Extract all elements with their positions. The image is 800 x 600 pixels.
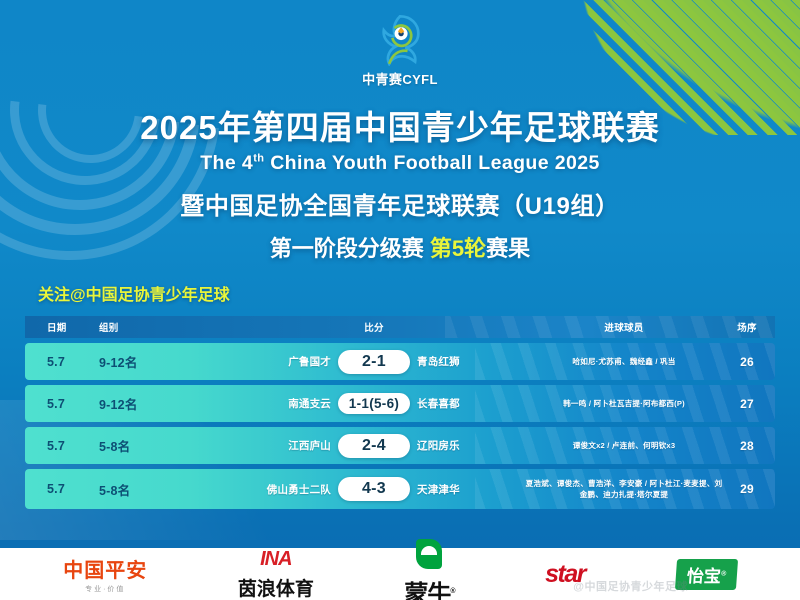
title-en-post: China Youth Football League 2025 <box>270 152 600 174</box>
mengniu-logo-icon <box>416 539 442 569</box>
cell-score: 2-4 <box>338 434 410 458</box>
cell-order: 29 <box>740 482 754 496</box>
sponsor-footer: 中国平安 专业·价值 INA 茵浪体育 蒙牛® star 怡宝® <box>0 548 800 600</box>
table-row: 5.7 5-8名 佛山勇士二队 4-3 天津津华 夏浩斌、谭俊杰、曹浩洋、李安豪… <box>25 469 775 509</box>
cell-order: 26 <box>740 355 754 369</box>
cell-home-team: 佛山勇士二队 <box>267 482 331 497</box>
sponsor-pingan: 中国平安 专业·价值 <box>63 554 147 594</box>
cell-home-team: 广鲁国才 <box>288 354 331 369</box>
cell-score: 2-1 <box>338 350 410 374</box>
cyfl-logo-icon <box>372 12 428 66</box>
sponsor-star: star <box>545 560 585 589</box>
sponsor-ina: INA 茵浪体育 <box>238 548 314 600</box>
title-en-pre: The 4 <box>200 152 253 174</box>
round-prefix: 第一阶段分级赛 <box>270 236 430 261</box>
cell-scorers: 谭俊文x2 / 卢连前、何明钦x3 <box>573 440 676 451</box>
cell-away-team: 青岛红狮 <box>417 354 460 369</box>
poster-root: 中青赛CYFL 2025年第四届中国青少年足球联赛 The 4th China … <box>0 0 800 600</box>
cell-home-team: 江西庐山 <box>288 438 331 453</box>
sponsor-pingan-name: 中国平安 <box>63 554 147 583</box>
column-header-scorers: 进球球员 <box>604 320 643 334</box>
sponsor-star-name: star <box>545 560 585 589</box>
cell-date: 5.7 <box>47 482 65 496</box>
sponsor-yibao-name: 怡宝® <box>674 559 737 590</box>
cell-group: 5-8名 <box>99 480 130 499</box>
results-table: 日期 组别 比分 进球球员 场序 5.7 9-12名 广鲁国才 2-1 青岛红狮… <box>25 316 775 509</box>
title-block: 2025年第四届中国青少年足球联赛 The 4th China Youth Fo… <box>0 110 800 263</box>
round-suffix: 赛果 <box>486 236 530 261</box>
table-row: 5.7 5-8名 江西庐山 2-4 辽阳房乐 谭俊文x2 / 卢连前、何明钦x3… <box>25 427 775 464</box>
cell-scorers: 韩一鸣 / 阿卜杜瓦吉提·阿布都西(P) <box>563 398 685 409</box>
cell-date: 5.7 <box>47 355 65 369</box>
column-header-score: 比分 <box>364 320 384 334</box>
sponsor-ina-name: 茵浪体育 <box>238 574 314 600</box>
sponsor-ina-mark: INA <box>260 548 291 571</box>
logo-wordmark: 中青赛CYFL <box>362 69 438 88</box>
table-row: 5.7 9-12名 南通支云 1-1(5-6) 长春喜都 韩一鸣 / 阿卜杜瓦吉… <box>25 385 775 422</box>
sponsor-mengniu-name: 蒙牛® <box>404 574 454 600</box>
cell-order: 27 <box>740 397 754 411</box>
sponsor-yibao: 怡宝® <box>676 559 737 590</box>
cell-group: 9-12名 <box>99 352 138 371</box>
column-header-order: 场序 <box>737 320 757 334</box>
cell-home-team: 南通支云 <box>288 396 331 411</box>
cell-away-team: 长春喜都 <box>417 396 460 411</box>
cell-score: 4-3 <box>338 477 410 501</box>
page-title: 2025年第四届中国青少年足球联赛 <box>0 110 800 147</box>
sponsor-mengniu-reg: ® <box>450 588 454 595</box>
cell-order: 28 <box>740 439 754 453</box>
cell-date: 5.7 <box>47 397 65 411</box>
table-header-row: 日期 组别 比分 进球球员 场序 <box>25 316 775 338</box>
round-line: 第一阶段分级赛 第5轮赛果 <box>0 231 800 263</box>
cell-scorers: 哈如尼·尤苏甫、魏经鑫 / 巩当 <box>572 356 675 367</box>
page-subtitle: 暨中国足协全国青年足球联赛（U19组） <box>0 186 800 221</box>
round-highlight: 第5轮 <box>430 236 486 261</box>
column-header-group: 组别 <box>99 320 119 334</box>
cell-group: 5-8名 <box>99 436 130 455</box>
sponsor-pingan-tagline: 专业·价值 <box>85 584 125 594</box>
sponsor-mengniu: 蒙牛® <box>404 539 454 600</box>
cell-date: 5.7 <box>47 439 65 453</box>
sponsor-yibao-reg: ® <box>720 570 726 577</box>
column-header-date: 日期 <box>47 320 67 334</box>
cell-away-team: 天津津华 <box>417 482 460 497</box>
table-row: 5.7 9-12名 广鲁国才 2-1 青岛红狮 哈如尼·尤苏甫、魏经鑫 / 巩当… <box>25 343 775 380</box>
cell-group: 9-12名 <box>99 394 138 413</box>
cell-scorers: 夏浩斌、谭俊杰、曹浩洋、李安豪 / 阿卜杜江·麦麦提、刘金鹏、迪力扎提·塔尔夏提 <box>525 478 723 500</box>
title-en-ordinal: th <box>253 152 264 164</box>
brand-logo-block: 中青赛CYFL <box>0 12 800 88</box>
page-title-english: The 4th China Youth Football League 2025 <box>0 152 800 175</box>
follow-handle: 关注@中国足协青少年足球 <box>38 281 230 305</box>
cell-away-team: 辽阳房乐 <box>417 438 460 453</box>
cell-score: 1-1(5-6) <box>338 393 410 414</box>
